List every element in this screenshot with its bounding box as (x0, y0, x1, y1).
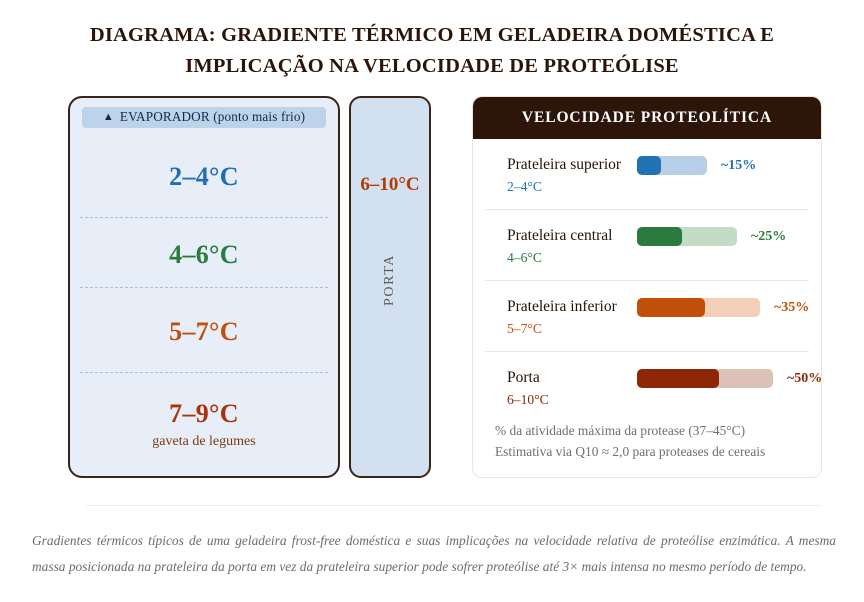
shelf-middle: 4–6°C (70, 220, 338, 290)
card-note-line-2: Estimativa via Q10 ≈ 2,0 para proteases … (495, 442, 805, 463)
row-label: Porta (507, 369, 540, 387)
bar-track (637, 156, 707, 175)
diagram-stage: ▲ EVAPORADOR (ponto mais frio) 2–4°C 4–6… (0, 94, 864, 486)
row-temp: 2–4°C (507, 179, 542, 195)
shelf-top: 2–4°C (70, 134, 338, 220)
table-row: Prateleira inferior5–7°C~35% (485, 281, 809, 352)
row-label: Prateleira superior (507, 156, 621, 174)
triangle-up-icon: ▲ (103, 112, 114, 123)
door-panel: 6–10°C PORTA (349, 96, 431, 478)
shelf-lower-temp: 5–7°C (169, 317, 239, 347)
bar-fill (637, 298, 705, 317)
row-temp: 4–6°C (507, 250, 542, 266)
card-note: % da atividade máxima da protease (37–45… (495, 421, 805, 463)
bar-fill (637, 369, 719, 388)
bar-track (637, 369, 773, 388)
proteolysis-card: VELOCIDADE PROTEOLÍTICA Prateleira super… (472, 96, 822, 478)
table-row: Prateleira central4–6°C~25% (485, 210, 809, 281)
card-note-line-1: % da atividade máxima da protease (37–45… (495, 421, 805, 442)
figure-caption: Gradientes térmicos típicos de uma gelad… (32, 528, 836, 580)
shelf-crisper: 7–9°C gaveta de legumes (70, 375, 338, 475)
row-temp: 5–7°C (507, 321, 542, 337)
evaporator-badge: ▲ EVAPORADOR (ponto mais frio) (82, 107, 326, 128)
row-percent: ~15% (721, 158, 756, 174)
table-row: Prateleira superior2–4°C~15% (485, 139, 809, 210)
bar-fill (637, 227, 682, 246)
shelf-middle-temp: 4–6°C (169, 240, 239, 270)
evaporator-label: EVAPORADOR (ponto mais frio) (120, 109, 305, 125)
shelf-top-temp: 2–4°C (169, 162, 239, 192)
row-percent: ~50% (787, 371, 822, 387)
row-percent: ~25% (751, 229, 786, 245)
caption-divider (86, 505, 822, 506)
door-label: PORTA (382, 254, 398, 306)
door-label-wrap: PORTA (351, 272, 429, 288)
table-row: Porta6–10°C~50% (485, 352, 809, 422)
door-temp: 6–10°C (351, 174, 429, 196)
title-block: DIAGRAMA: GRADIENTE TÉRMICO EM GELADEIRA… (0, 0, 864, 82)
row-label: Prateleira inferior (507, 298, 617, 316)
row-percent: ~35% (774, 300, 809, 316)
shelf-crisper-sublabel: gaveta de legumes (152, 434, 255, 450)
bar-track (637, 227, 737, 246)
row-label: Prateleira central (507, 227, 612, 245)
proteolysis-card-header: VELOCIDADE PROTEOLÍTICA (473, 97, 821, 139)
shelf-crisper-temp: 7–9°C (169, 399, 239, 429)
shelf-lower: 5–7°C (70, 290, 338, 375)
fridge-body: ▲ EVAPORADOR (ponto mais frio) 2–4°C 4–6… (68, 96, 340, 478)
bar-fill (637, 156, 661, 175)
row-temp: 6–10°C (507, 392, 549, 408)
bar-track (637, 298, 760, 317)
page-title: DIAGRAMA: GRADIENTE TÉRMICO EM GELADEIRA… (70, 20, 794, 82)
proteolysis-rows: Prateleira superior2–4°C~15%Prateleira c… (473, 139, 821, 422)
